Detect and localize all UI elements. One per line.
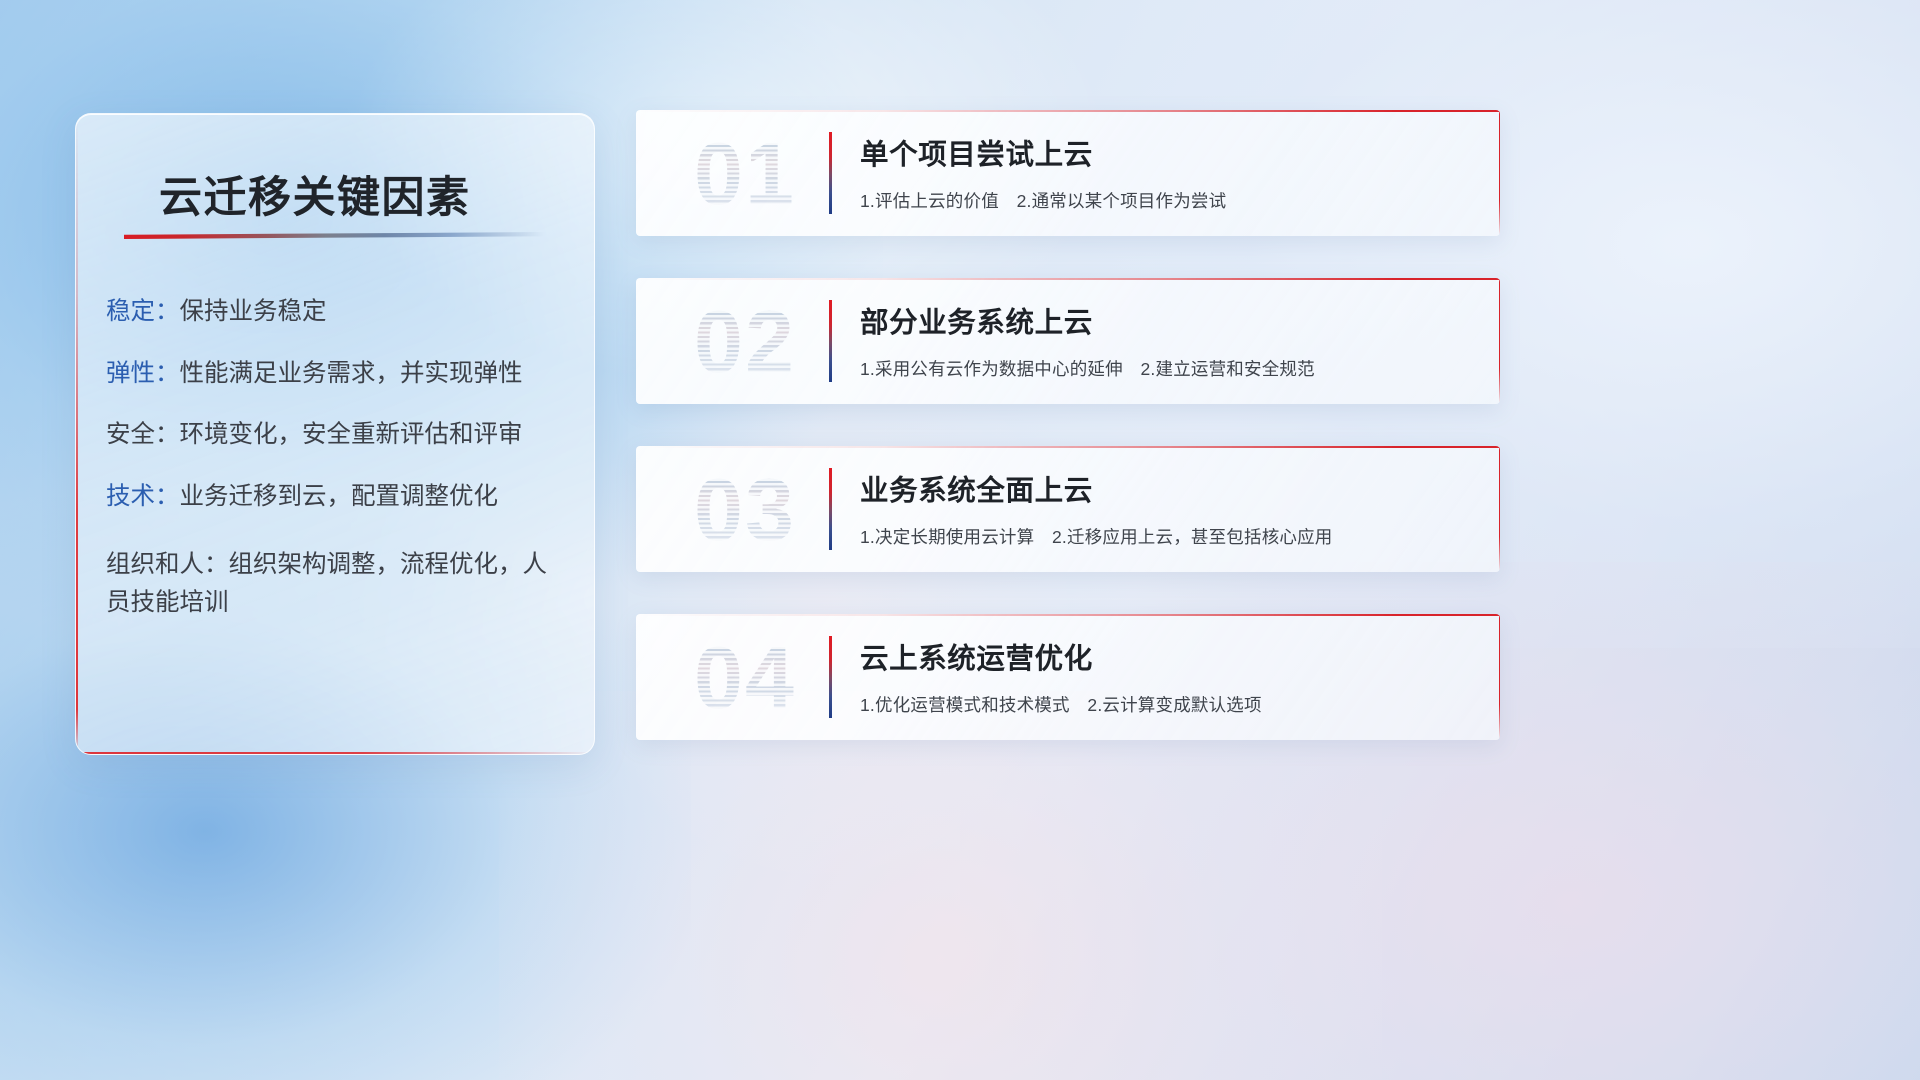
factor-text: 业务迁移到云，配置调整优化 (180, 483, 499, 510)
stage-number-text: 02 (694, 292, 796, 391)
card-accent-bar (829, 468, 832, 550)
card-top-accent-line (636, 446, 1500, 448)
migration-stage-cards: 01 单个项目尝试上云 1.评估上云的价值 2.通常以某个项目作为尝试 02 部… (636, 110, 1500, 782)
stage-number-text: 04 (694, 628, 796, 727)
card-top-accent-line (636, 614, 1500, 616)
factor-label: 弹性： (106, 360, 180, 387)
list-item: 弹性：性能满足业务需求，并实现弹性 (106, 362, 570, 387)
card-top-accent-line (636, 110, 1500, 112)
stage-card[interactable]: 02 部分业务系统上云 1.采用公有云作为数据中心的延伸 2.建立运营和安全规范 (636, 278, 1500, 404)
list-item: 安全：环境变化，安全重新评估和评审 (106, 423, 570, 448)
stage-card[interactable]: 01 单个项目尝试上云 1.评估上云的价值 2.通常以某个项目作为尝试 (636, 110, 1500, 236)
list-item: 组织和人：组织架构调整，流程优化，人员技能培训 (106, 546, 570, 621)
card-accent-bar (829, 300, 832, 382)
stage-number-text: 01 (694, 124, 796, 223)
card-title: 云上系统运营优化 (860, 636, 1093, 677)
factor-label: 安全： (106, 421, 180, 448)
panel-bottom-accent-edge (76, 752, 594, 754)
card-title: 业务系统全面上云 (860, 468, 1093, 509)
list-item: 稳定：保持业务稳定 (106, 300, 570, 325)
card-title: 单个项目尝试上云 (860, 132, 1093, 173)
card-title: 部分业务系统上云 (860, 300, 1093, 341)
factor-text: 保持业务稳定 (180, 298, 327, 325)
card-subtitle: 1.采用公有云作为数据中心的延伸 2.建立运营和安全规范 (860, 356, 1315, 381)
stage-card[interactable]: 04 云上系统运营优化 1.优化运营模式和技术模式 2.云计算变成默认选项 (636, 614, 1500, 740)
factor-text: 环境变化，安全重新评估和评审 (180, 421, 523, 448)
stage-number-watermark: 03 (660, 458, 830, 562)
stage-number-watermark: 01 (660, 122, 830, 226)
key-factors-panel: 云迁移关键因素 稳定：保持业务稳定 弹性：性能满足业务需求，并实现弹性 安全：环… (75, 113, 595, 755)
panel-left-accent-edge (76, 114, 78, 754)
key-factors-list: 稳定：保持业务稳定 弹性：性能满足业务需求，并实现弹性 安全：环境变化，安全重新… (106, 300, 570, 658)
factor-label: 组织和人： (106, 551, 229, 578)
title-underline-accent (124, 232, 544, 239)
card-subtitle: 1.评估上云的价值 2.通常以某个项目作为尝试 (860, 188, 1226, 213)
stage-number-watermark: 04 (660, 626, 830, 730)
stage-number-text: 03 (694, 460, 796, 559)
stage-number-watermark: 02 (660, 290, 830, 394)
factor-text: 性能满足业务需求，并实现弹性 (180, 360, 523, 387)
stage-card[interactable]: 03 业务系统全面上云 1.决定长期使用云计算 2.迁移应用上云，甚至包括核心应… (636, 446, 1500, 572)
page-title: 云迁移关键因素 (159, 163, 471, 225)
list-item: 技术：业务迁移到云，配置调整优化 (106, 485, 570, 510)
card-accent-bar (829, 132, 832, 214)
factor-label: 稳定： (106, 298, 180, 325)
card-subtitle: 1.决定长期使用云计算 2.迁移应用上云，甚至包括核心应用 (860, 524, 1333, 549)
card-accent-bar (829, 636, 832, 718)
card-top-accent-line (636, 278, 1500, 280)
card-subtitle: 1.优化运营模式和技术模式 2.云计算变成默认选项 (860, 692, 1262, 717)
factor-label: 技术： (106, 483, 180, 510)
